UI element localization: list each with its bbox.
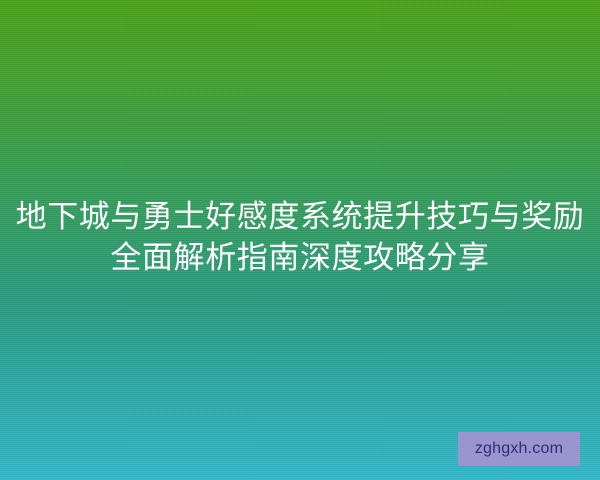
page-title-line-2: 全面解析指南深度攻略分享 — [0, 237, 600, 278]
page-title-line-1: 地下城与勇士好感度系统提升技巧与奖励 — [0, 196, 600, 237]
cover-image: 地下城与勇士好感度系统提升技巧与奖励 全面解析指南深度攻略分享 zghgxh.c… — [0, 0, 600, 480]
site-watermark: zghgxh.com — [458, 432, 580, 466]
watermark-label: zghgxh.com — [475, 441, 563, 457]
page-title: 地下城与勇士好感度系统提升技巧与奖励 全面解析指南深度攻略分享 — [0, 196, 600, 278]
